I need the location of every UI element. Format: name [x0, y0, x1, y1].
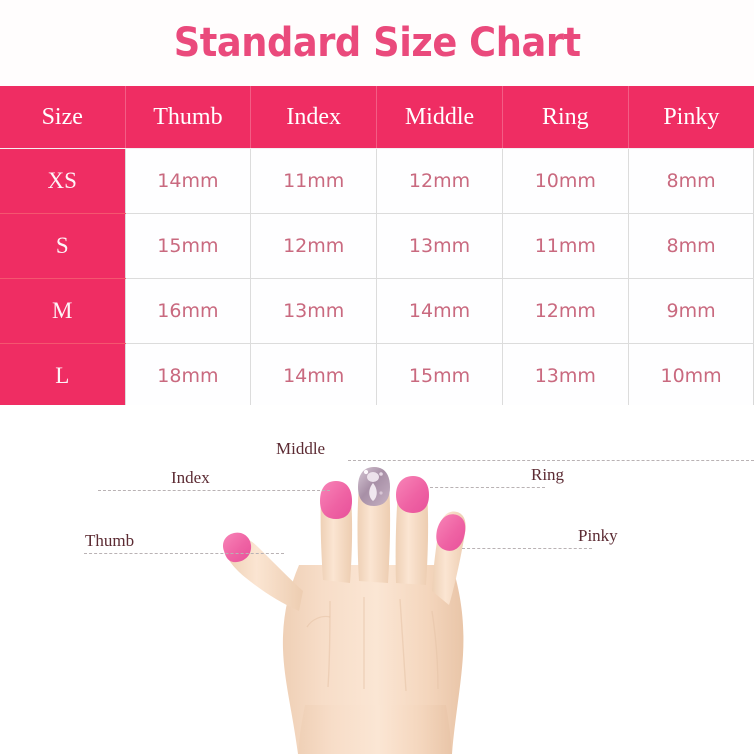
dash-line-pinky: [462, 548, 592, 549]
cell-xs-ring: 10mm: [502, 149, 628, 214]
table-row: XS 14mm 11mm 12mm 10mm 8mm: [0, 149, 754, 214]
column-header-middle: Middle: [377, 86, 503, 149]
table-row: M 16mm 13mm 14mm 12mm 9mm: [0, 279, 754, 344]
cell-s-pinky: 8mm: [628, 214, 754, 279]
cell-l-thumb: 18mm: [125, 344, 251, 409]
size-label-xs: XS: [0, 149, 125, 214]
page-title: Standard Size Chart: [174, 20, 581, 66]
label-ring: Ring: [531, 465, 564, 485]
cell-s-ring: 11mm: [502, 214, 628, 279]
table-row: L 18mm 14mm 15mm 13mm 10mm: [0, 344, 754, 409]
cell-xs-pinky: 8mm: [628, 149, 754, 214]
cell-xs-index: 11mm: [251, 149, 377, 214]
label-middle: Middle: [276, 439, 325, 459]
cell-s-thumb: 15mm: [125, 214, 251, 279]
dash-line-ring: [430, 487, 545, 488]
dash-line-middle: [348, 460, 754, 461]
cell-s-index: 12mm: [251, 214, 377, 279]
label-thumb: Thumb: [85, 531, 134, 551]
column-header-index: Index: [251, 86, 377, 149]
hand-illustration: [0, 405, 754, 754]
size-label-l: L: [0, 344, 125, 409]
table-header-row: Size Thumb Index Middle Ring Pinky: [0, 86, 754, 149]
size-chart-page: Standard Size Chart Size Thumb Index Mid…: [0, 0, 754, 754]
cell-m-pinky: 9mm: [628, 279, 754, 344]
label-index: Index: [171, 468, 210, 488]
size-table: Size Thumb Index Middle Ring Pinky XS 14…: [0, 86, 754, 409]
column-header-size: Size: [0, 86, 125, 149]
size-label-m: M: [0, 279, 125, 344]
cell-m-index: 13mm: [251, 279, 377, 344]
cell-l-ring: 13mm: [502, 344, 628, 409]
cell-xs-thumb: 14mm: [125, 149, 251, 214]
column-header-ring: Ring: [502, 86, 628, 149]
cell-s-middle: 13mm: [377, 214, 503, 279]
cell-m-thumb: 16mm: [125, 279, 251, 344]
dash-line-thumb: [84, 553, 284, 554]
size-label-s: S: [0, 214, 125, 279]
cell-xs-middle: 12mm: [377, 149, 503, 214]
hand-diagram: Middle Index Ring Thumb Pinky: [0, 405, 754, 754]
cell-m-middle: 14mm: [377, 279, 503, 344]
column-header-thumb: Thumb: [125, 86, 251, 149]
cell-l-pinky: 10mm: [628, 344, 754, 409]
cell-l-index: 14mm: [251, 344, 377, 409]
column-header-pinky: Pinky: [628, 86, 754, 149]
cell-m-ring: 12mm: [502, 279, 628, 344]
table-row: S 15mm 12mm 13mm 11mm 8mm: [0, 214, 754, 279]
cell-l-middle: 15mm: [377, 344, 503, 409]
dash-line-index: [98, 490, 330, 491]
title-bar: Standard Size Chart: [0, 0, 754, 86]
label-pinky: Pinky: [578, 526, 618, 546]
